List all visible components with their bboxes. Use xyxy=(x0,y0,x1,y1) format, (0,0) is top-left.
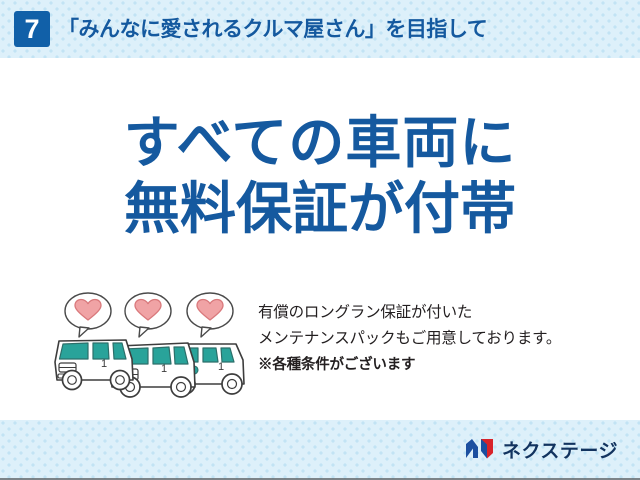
body-copy-note: ※各種条件がございます xyxy=(258,352,628,378)
header-bar: 7 「みんなに愛されるクルマ屋さん」を目指して xyxy=(0,0,640,58)
svg-text:1: 1 xyxy=(101,358,107,370)
content-panel: すべての車両に 無料保証が付帯 xyxy=(0,58,640,420)
body-copy-line-2: メンテナンスパックもご用意しております。 xyxy=(258,326,628,352)
cars-illustration: 1 xyxy=(48,288,248,408)
lower-block: 1 xyxy=(0,288,640,418)
svg-text:1: 1 xyxy=(161,363,167,375)
headline-line-2: 無料保証が付帯 xyxy=(0,176,640,242)
heart-bubble-3 xyxy=(187,293,233,337)
section-number-badge: 7 xyxy=(14,11,50,47)
heart-bubble-2 xyxy=(125,293,171,337)
brand-logo: ネクステージ xyxy=(465,436,618,462)
body-copy-line-1: 有償のロングラン保証が付いた xyxy=(258,300,628,326)
car-kei-wagon: 1 xyxy=(55,340,133,390)
header-title: 「みんなに愛されるクルマ屋さん」を目指して xyxy=(58,13,487,43)
brand-logo-text: ネクステージ xyxy=(502,436,618,463)
cars-illustration-svg: 1 xyxy=(48,288,248,408)
headline: すべての車両に 無料保証が付帯 xyxy=(0,110,640,242)
heart-bubble-1 xyxy=(65,293,111,337)
promo-banner: 7 「みんなに愛されるクルマ屋さん」を目指して すべての車両に 無料保証が付帯 xyxy=(0,0,640,480)
body-copy: 有償のロングラン保証が付いた メンテナンスパックもご用意しております。 ※各種条… xyxy=(258,300,628,378)
nexstage-n-mark-icon xyxy=(465,437,495,461)
headline-line-1: すべての車両に xyxy=(0,110,640,176)
svg-text:1: 1 xyxy=(218,361,224,373)
